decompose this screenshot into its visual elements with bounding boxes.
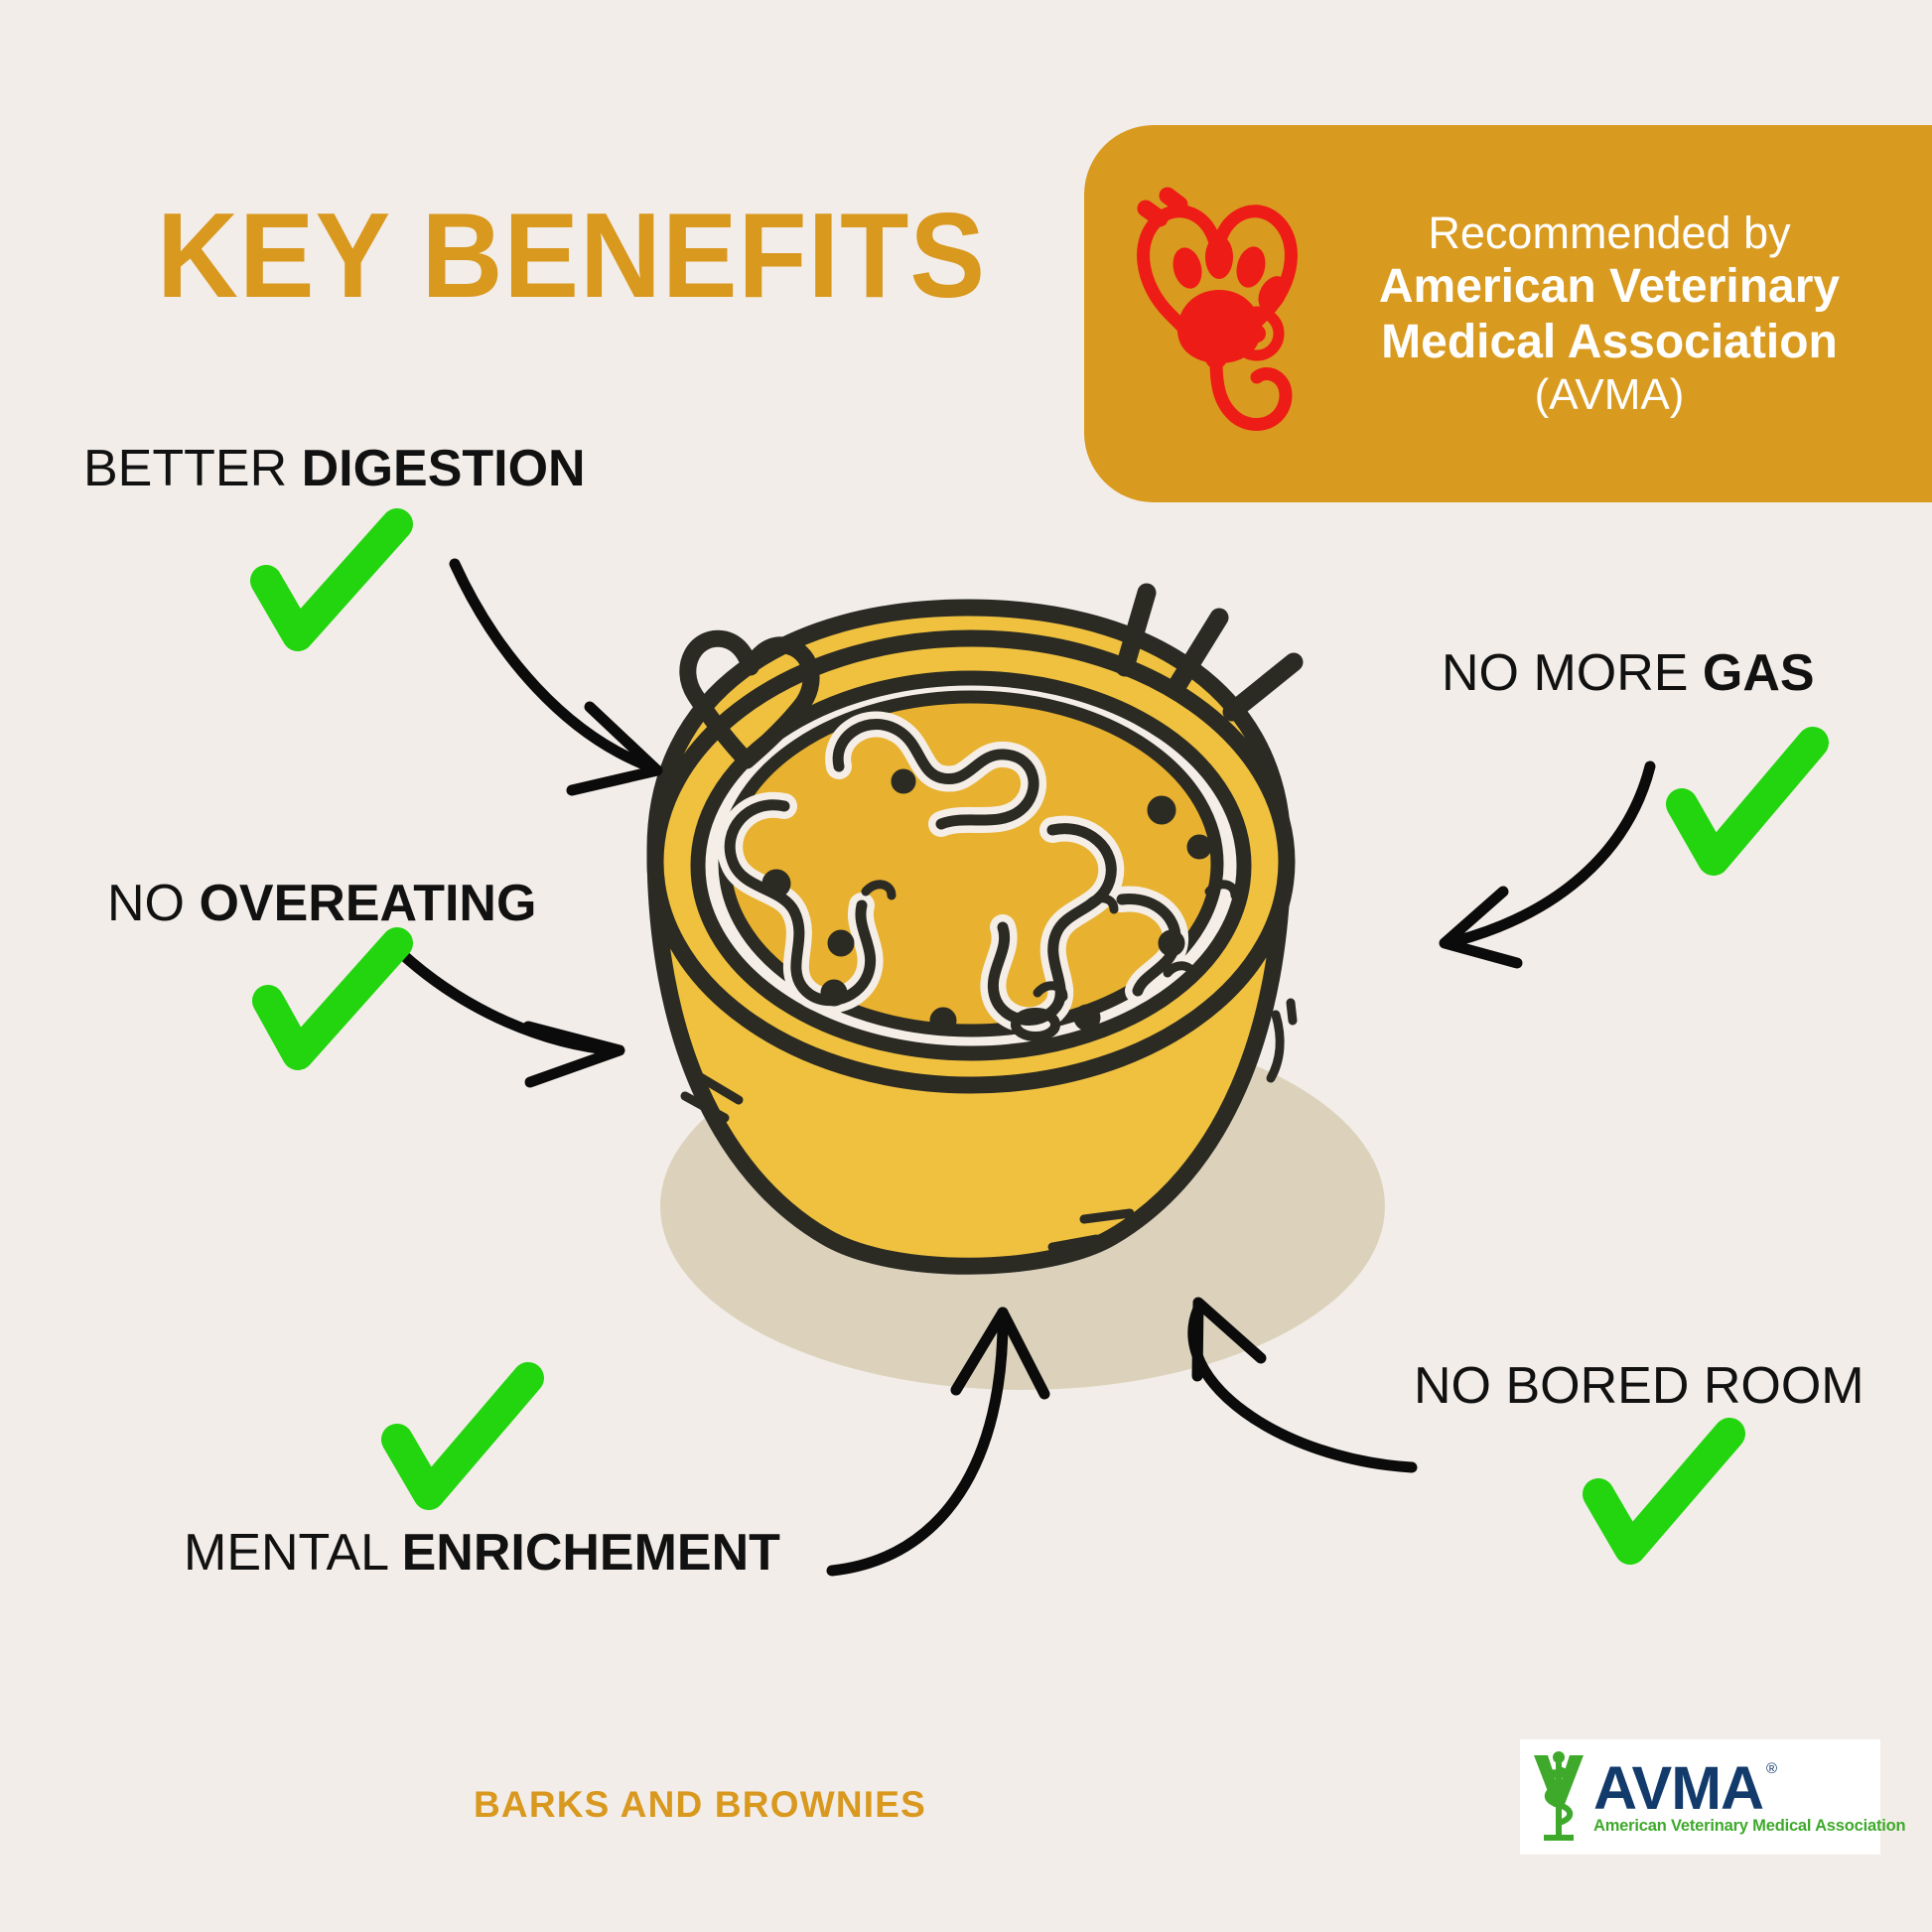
recommendation-line-4: (AVMA): [1330, 369, 1888, 420]
benefit-label-gas: NO MORE GAS: [1442, 647, 1815, 699]
recommendation-line-3: Medical Association: [1330, 315, 1888, 370]
avma-wordmark-text: AVMA: [1593, 1754, 1763, 1822]
benefit-label-digestion: BETTER DIGESTION: [83, 443, 586, 494]
recommendation-line-1: Recommended by: [1330, 207, 1888, 259]
benefit-prefix: NO: [107, 875, 199, 932]
curved-arrow-up-left: [1193, 1309, 1412, 1467]
caduceus-v-icon: [1528, 1747, 1589, 1847]
sparkle-lines-icon: [1125, 593, 1294, 712]
avma-logo: AVMA® American Veterinary Medical Associ…: [1520, 1739, 1880, 1855]
benefit-label-enrichement: MENTAL ENRICHEMENT: [184, 1527, 780, 1579]
benefit-prefix: MENTAL: [184, 1524, 402, 1582]
infographic-poster: KEY BENEFITS R: [0, 0, 1932, 1932]
benefit-label-overeating: NO OVEREATING: [107, 878, 536, 929]
curved-arrow-right: [401, 953, 616, 1050]
recommendation-badge: Recommended by American Veterinary Medic…: [1084, 125, 1932, 502]
benefit-prefix: NO MORE: [1442, 644, 1703, 702]
stethoscope-heart-paw-icon: [1102, 165, 1330, 463]
green-check-icon: [266, 524, 397, 635]
benefit-prefix: NO BORED ROOM: [1414, 1357, 1864, 1415]
recommendation-line-2: American Veterinary: [1330, 259, 1888, 315]
avma-wordmark: AVMA®: [1593, 1760, 1763, 1816]
avma-logo-text: AVMA® American Veterinary Medical Associ…: [1589, 1760, 1905, 1835]
green-check-icon: [1598, 1434, 1729, 1549]
curved-arrow-down-right: [455, 564, 649, 766]
benefit-label-bored-room: NO BORED ROOM: [1414, 1360, 1864, 1412]
footer-brand: BARKS AND BROWNIES: [0, 1784, 1400, 1826]
page-title: KEY BENEFITS: [157, 195, 986, 316]
benefit-emphasis: ENRICHEMENT: [402, 1524, 780, 1582]
recommendation-badge-text: Recommended by American Veterinary Medic…: [1330, 207, 1932, 421]
benefit-emphasis: OVEREATING: [199, 875, 536, 932]
green-check-icon: [397, 1378, 528, 1494]
registered-mark: ®: [1766, 1762, 1776, 1776]
benefit-emphasis: GAS: [1703, 644, 1815, 702]
green-check-icon: [268, 943, 397, 1054]
green-check-icon: [1682, 743, 1813, 860]
curved-arrow-down-left: [1455, 766, 1650, 941]
benefit-prefix: BETTER: [83, 440, 302, 497]
benefit-emphasis: DIGESTION: [302, 440, 586, 497]
heart-outline-icon: [688, 638, 811, 760]
curved-arrow-up-right: [832, 1312, 1003, 1571]
